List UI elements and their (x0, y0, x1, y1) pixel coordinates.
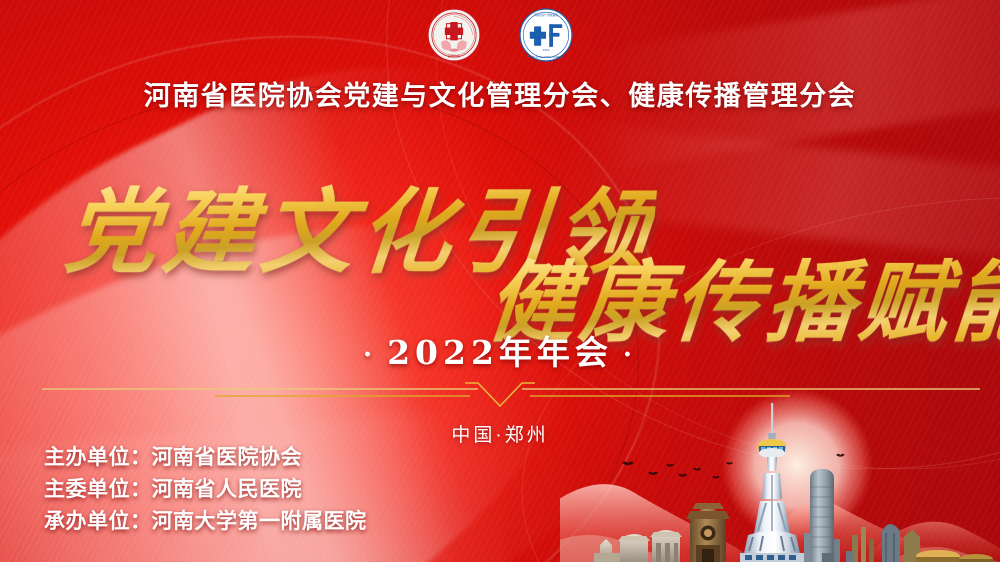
blue-cross-circular-emblem-icon: 河南省第一附属医院 1963 FIRST AFFILIATED HOSPITAL (519, 8, 573, 62)
logo-row: 医院协会 河南省第一附属医院 1963 FIRST AFFILIATED HOS… (0, 8, 1000, 62)
svg-text:河南省第一附属医院: 河南省第一附属医院 (534, 13, 558, 17)
svg-text:1963: 1963 (543, 48, 550, 52)
year-dot-right: · (613, 340, 647, 370)
organizer-row-host: 主办单位：河南省医院协会 (44, 442, 367, 474)
gold-v-notch-divider (0, 372, 1000, 412)
organizer-row-undertaker: 承办单位：河南大学第一附属医院 (44, 506, 367, 538)
red-cross-hands-circular-emblem-icon: 医院协会 (427, 8, 481, 62)
zhengzhou-skyline-scene (560, 387, 1000, 562)
skyline-svg (560, 387, 1000, 562)
year-line: ·2022年年会· (0, 326, 1000, 374)
organizer-row-chair: 主委单位：河南省人民医院 (44, 474, 367, 506)
year-text: 2022年年会 (387, 333, 613, 372)
svg-text:FIRST AFFILIATED HOSPITAL: FIRST AFFILIATED HOSPITAL (527, 55, 565, 59)
organization-title: 河南省医院协会党建与文化管理分会、健康传播管理分会 (0, 74, 1000, 113)
svg-text:医院协会: 医院协会 (448, 53, 460, 58)
year-dot-left: · (353, 340, 387, 370)
ancient-pagoda (686, 503, 730, 562)
conference-poster: 医院协会 河南省第一附属医院 1963 FIRST AFFILIATED HOS… (0, 0, 1000, 562)
divider-svg (0, 372, 1000, 412)
organizers-block: 主办单位：河南省医院协会 主委单位：河南省人民医院 承办单位：河南大学第一附属医… (44, 442, 367, 538)
